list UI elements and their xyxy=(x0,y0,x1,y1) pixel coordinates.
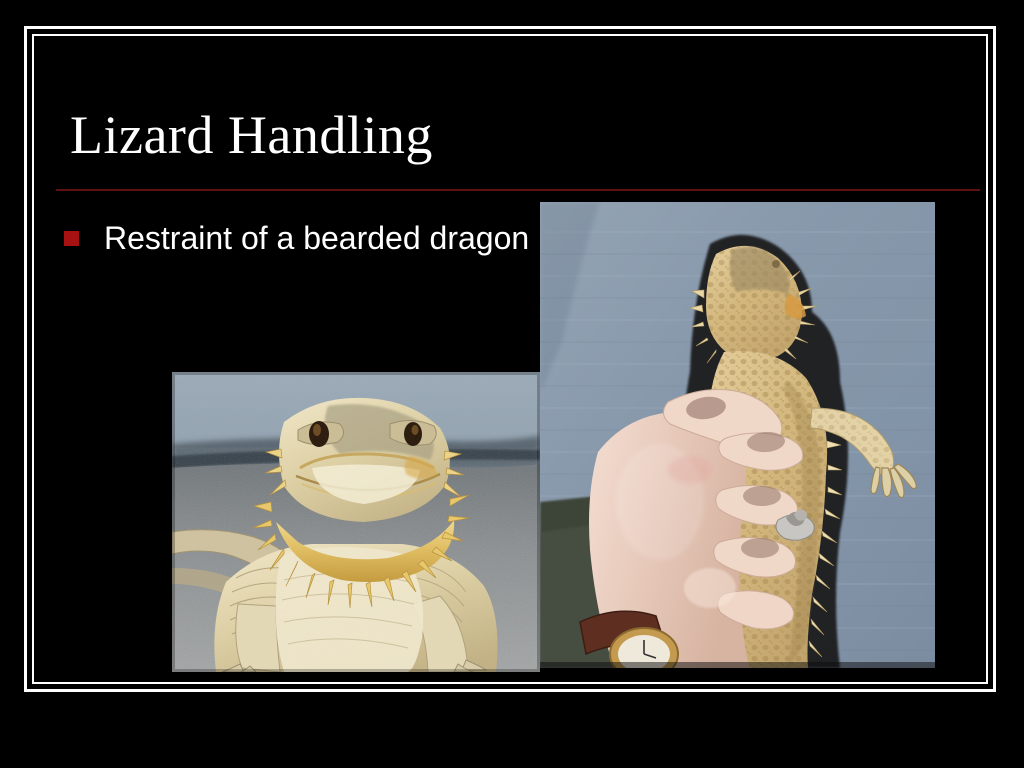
restraint-photo-graphic xyxy=(540,202,935,668)
list-item: Restraint of a bearded dragon xyxy=(64,218,534,259)
title-divider xyxy=(56,189,980,191)
slide-content: Lizard Handling Restraint of a bearded d… xyxy=(34,36,986,682)
bullet-text: Restraint of a bearded dragon xyxy=(104,218,534,259)
bearded-dragon-portrait-photo xyxy=(172,372,540,672)
slide: Lizard Handling Restraint of a bearded d… xyxy=(0,0,1024,768)
square-bullet-icon xyxy=(64,231,79,246)
page-title: Lizard Handling xyxy=(70,108,950,162)
portrait-photo-graphic xyxy=(172,372,540,672)
bearded-dragon-restraint-photo xyxy=(540,202,935,668)
